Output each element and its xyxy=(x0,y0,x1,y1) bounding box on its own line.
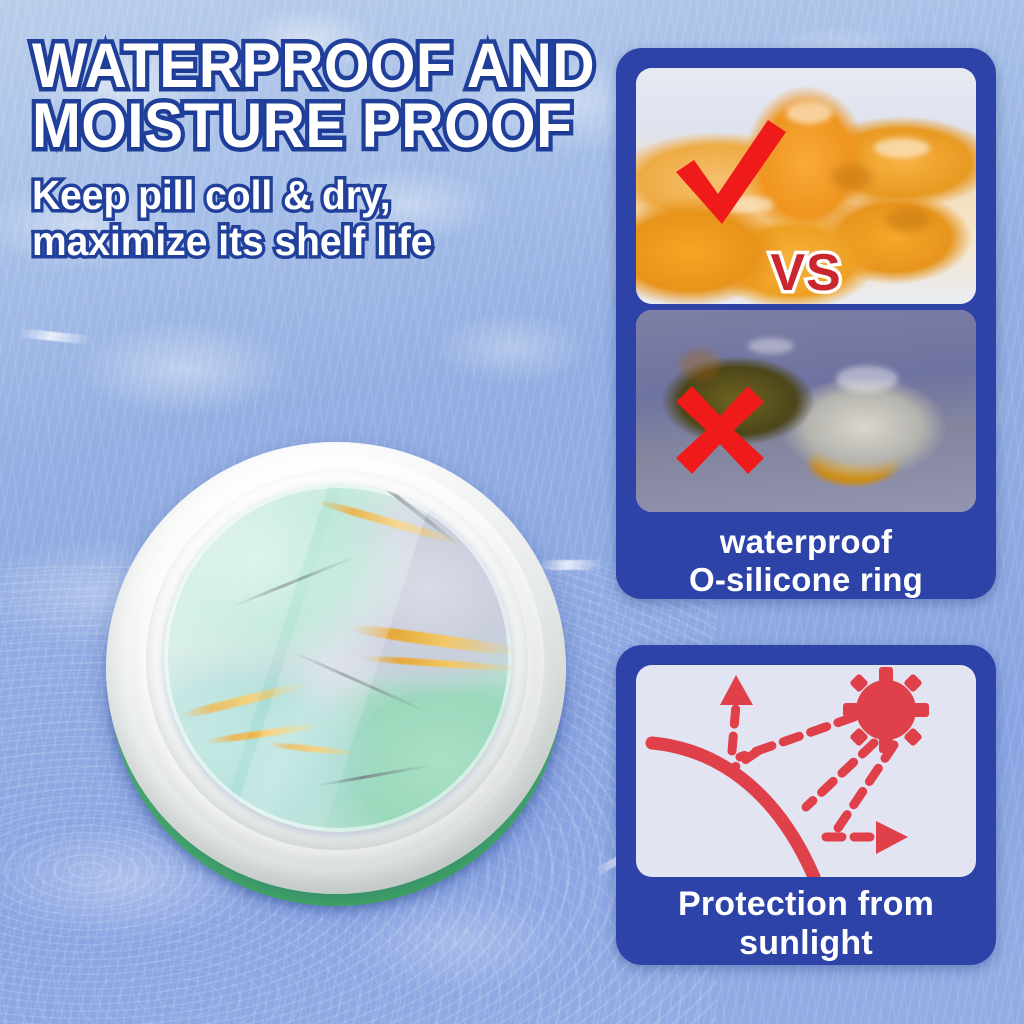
gold-vein xyxy=(204,722,324,746)
gold-vein xyxy=(179,680,307,720)
waterproof-card: VS waterproof O-silicone ring xyxy=(616,48,996,599)
waterproof-caption-line-2: O-silicone ring xyxy=(616,561,996,599)
cross-icon xyxy=(672,382,768,478)
gold-vein xyxy=(360,654,512,672)
waterproof-caption-line-1: waterproof xyxy=(616,523,996,561)
bad-capsules-photo xyxy=(636,310,976,512)
marble-vein xyxy=(315,764,434,788)
sunlight-card: Protection from sunlight xyxy=(616,645,996,965)
subheadline-line-1: Keep pill coll & dry, xyxy=(32,173,578,217)
pill-case-product xyxy=(72,392,612,932)
sun-icon xyxy=(843,667,929,753)
checkmark-icon xyxy=(672,116,790,226)
product-marketing-image: WATERPROOF AND MOISTURE PROOF Keep pill … xyxy=(0,0,1024,1024)
gold-vein xyxy=(268,741,358,756)
sunlight-caption-line-2: sunlight xyxy=(616,924,996,963)
waterproof-caption: waterproof O-silicone ring xyxy=(616,523,996,598)
headline-line-1: WATERPROOF AND xyxy=(32,36,567,96)
headline-block: WATERPROOF AND MOISTURE PROOF Keep pill … xyxy=(32,36,607,263)
versus-label: VS xyxy=(616,243,996,303)
gold-vein xyxy=(350,622,512,658)
marble-vein xyxy=(229,554,360,609)
subheadline-line-2: maximize its shelf life xyxy=(32,219,578,263)
sunlight-caption-line-1: Protection from xyxy=(616,885,996,924)
sunlight-diagram xyxy=(636,665,976,877)
headline-line-2: MOISTURE PROOF xyxy=(32,96,567,156)
sunlight-caption: Protection from sunlight xyxy=(616,885,996,963)
marble-lid xyxy=(164,484,512,832)
